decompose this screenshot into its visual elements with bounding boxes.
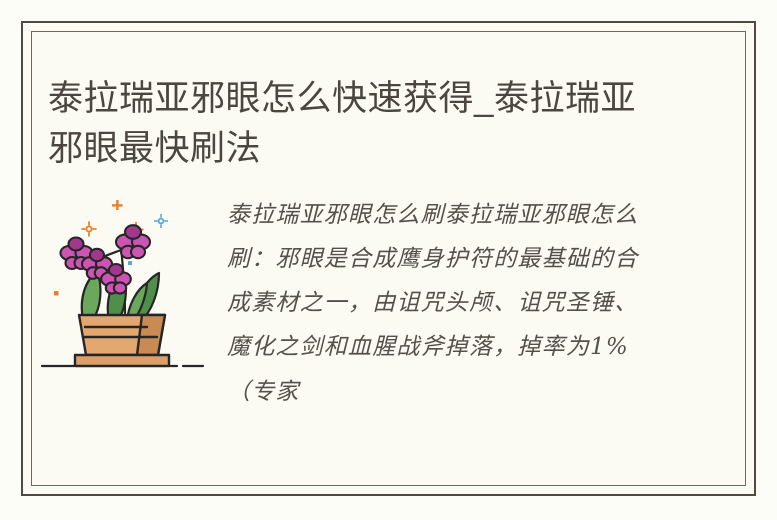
potted-orchid-icon bbox=[31, 193, 209, 378]
page-root: 泰拉瑞亚邪眼怎么快速获得_泰拉瑞亚邪眼最快刷法 bbox=[0, 0, 777, 520]
sparkle-dot-blue bbox=[128, 261, 132, 265]
sparkle-dot-orange bbox=[54, 291, 59, 296]
orchid-flowers bbox=[61, 225, 151, 293]
sparkle-plus-orange bbox=[112, 200, 123, 210]
flower-pot bbox=[75, 315, 169, 366]
article-thumbnail bbox=[31, 193, 209, 378]
article-body-row: 泰拉瑞亚邪眼怎么刷泰拉瑞亚邪眼怎么刷：邪眼是合成鹰身护符的最基础的合成素材之一，… bbox=[23, 193, 754, 414]
article-body-text: 泰拉瑞亚邪眼怎么刷泰拉瑞亚邪眼怎么刷：邪眼是合成鹰身护符的最基础的合成素材之一，… bbox=[227, 193, 651, 414]
flower-4 bbox=[116, 225, 150, 258]
sparkle-star-orange-left bbox=[81, 221, 96, 236]
sparkle-star-blue bbox=[154, 214, 168, 228]
outer-frame-border: 泰拉瑞亚邪眼怎么快速获得_泰拉瑞亚邪眼最快刷法 bbox=[21, 21, 756, 496]
page-title: 泰拉瑞亚邪眼怎么快速获得_泰拉瑞亚邪眼最快刷法 bbox=[48, 74, 648, 173]
article-content: 泰拉瑞亚邪眼怎么快速获得_泰拉瑞亚邪眼最快刷法 bbox=[23, 23, 754, 494]
